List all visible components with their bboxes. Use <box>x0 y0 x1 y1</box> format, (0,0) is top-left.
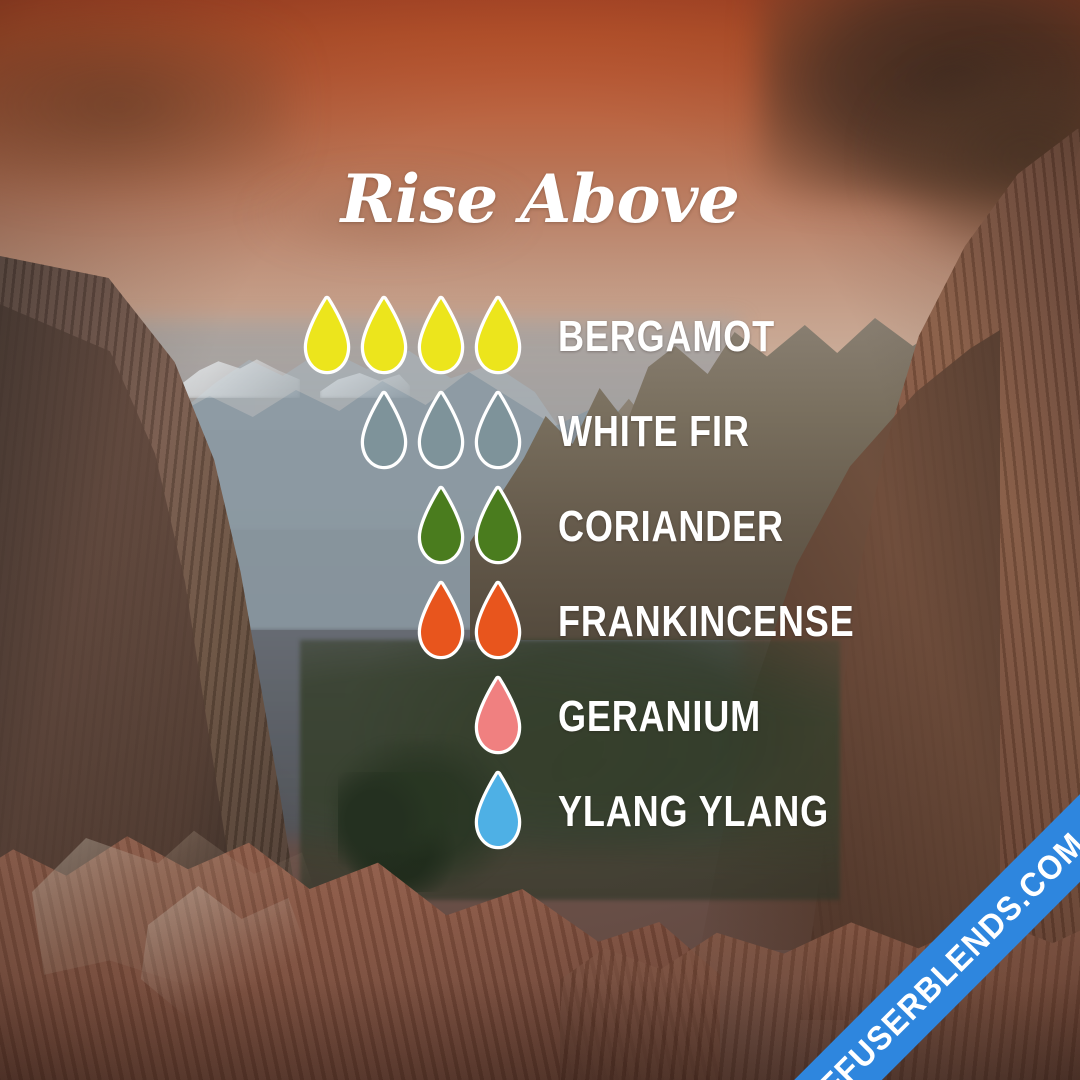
drop-count-group <box>0 486 525 568</box>
oil-name: FRANKINCENSE <box>558 581 854 663</box>
oil-name: GERANIUM <box>558 676 761 758</box>
oil-row: WHITE FIR <box>0 391 1080 486</box>
drop-count-group <box>0 581 525 663</box>
blend-card: Rise Above BERGAMOTWHITE FIRCORIANDERFRA… <box>0 0 1080 1080</box>
drop-count-group <box>0 296 525 378</box>
oil-drop-icon <box>471 391 525 473</box>
oil-drop-icon <box>414 581 468 663</box>
drop-count-group <box>0 391 525 473</box>
oil-drop-icon <box>471 486 525 568</box>
oil-drop-icon <box>357 391 411 473</box>
oil-drop-icon <box>471 676 525 758</box>
oil-row: YLANG YLANG <box>0 771 1080 866</box>
oil-name: WHITE FIR <box>558 391 750 473</box>
oil-drop-icon <box>471 581 525 663</box>
oil-drop-icon <box>357 296 411 378</box>
drop-count-group <box>0 676 525 758</box>
content-layer: Rise Above BERGAMOTWHITE FIRCORIANDERFRA… <box>0 0 1080 1080</box>
oil-drop-icon <box>471 771 525 853</box>
oil-drop-icon <box>300 296 354 378</box>
oil-name: CORIANDER <box>558 486 784 568</box>
oil-name: BERGAMOT <box>558 296 775 378</box>
oil-row: CORIANDER <box>0 486 1080 581</box>
blend-title: Rise Above <box>0 166 1080 232</box>
oil-list: BERGAMOTWHITE FIRCORIANDERFRANKINCENSEGE… <box>0 296 1080 866</box>
oil-row: GERANIUM <box>0 676 1080 771</box>
oil-row: BERGAMOT <box>0 296 1080 391</box>
oil-drop-icon <box>414 391 468 473</box>
oil-row: FRANKINCENSE <box>0 581 1080 676</box>
drop-count-group <box>0 771 525 853</box>
oil-drop-icon <box>414 296 468 378</box>
oil-drop-icon <box>471 296 525 378</box>
oil-drop-icon <box>414 486 468 568</box>
oil-name: YLANG YLANG <box>558 771 829 853</box>
